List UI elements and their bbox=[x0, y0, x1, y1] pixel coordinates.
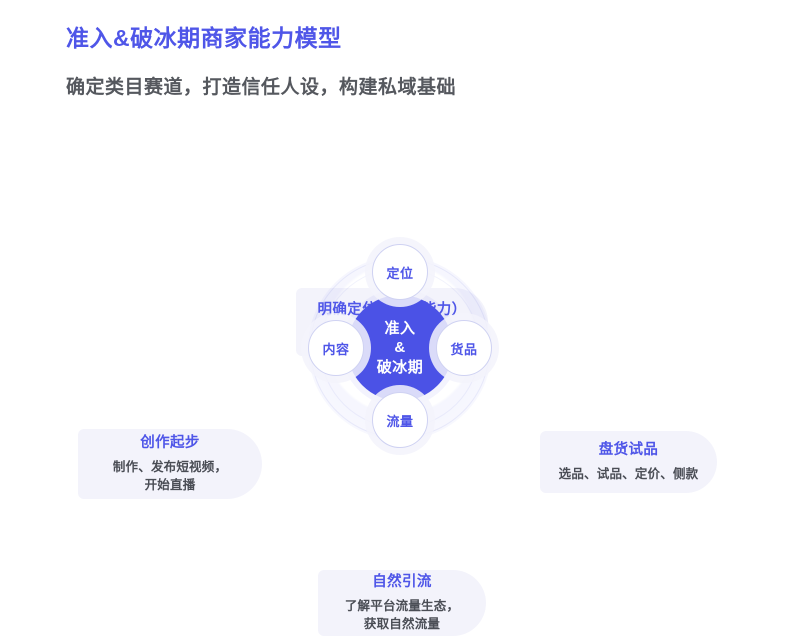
callout-title: 盘货试品 bbox=[599, 441, 659, 461]
node-content[interactable]: 内容 bbox=[308, 320, 364, 376]
callout-description: 了解平台流量生态， 获取自然流量 bbox=[345, 597, 459, 633]
page-title: 准入&破冰期商家能力模型 bbox=[66, 24, 746, 54]
node-label: 货品 bbox=[450, 339, 477, 358]
callout-card-organic-traffic[interactable]: 自然引流 了解平台流量生态， 获取自然流量 bbox=[318, 570, 486, 636]
callout-description: 选品、试品、定价、侧款 bbox=[559, 465, 699, 483]
node-label: 内容 bbox=[322, 339, 349, 358]
hub-assembly: 准入 & 破冰期 定位 货品 流量 内容 bbox=[296, 244, 504, 452]
page-subtitle: 确定类目赛道，打造信任人设，构建私域基础 bbox=[66, 76, 746, 101]
callout-title: 创作起步 bbox=[140, 434, 200, 454]
node-traffic[interactable]: 流量 bbox=[372, 392, 428, 448]
callout-description: 制作、发布短视频， 开始直播 bbox=[113, 458, 227, 494]
callout-card-creation-start[interactable]: 创作起步 制作、发布短视频， 开始直播 bbox=[78, 429, 262, 499]
callout-title: 自然引流 bbox=[372, 573, 432, 593]
node-label: 定位 bbox=[386, 263, 413, 282]
node-label: 流量 bbox=[386, 411, 413, 430]
node-goods[interactable]: 货品 bbox=[436, 320, 492, 376]
page-header: 准入&破冰期商家能力模型 确定类目赛道，打造信任人设，构建私域基础 bbox=[66, 24, 746, 101]
hub-label: 准入 & 破冰期 bbox=[377, 319, 424, 378]
callout-card-inventory-sampling[interactable]: 盘货试品 选品、试品、定价、侧款 bbox=[540, 431, 717, 493]
capability-model-diagram: 明确定位（核心能力） 定赛道，立人设 创作起步 制作、发布短视频， 开始直播 盘… bbox=[0, 130, 800, 560]
node-position[interactable]: 定位 bbox=[372, 244, 428, 300]
